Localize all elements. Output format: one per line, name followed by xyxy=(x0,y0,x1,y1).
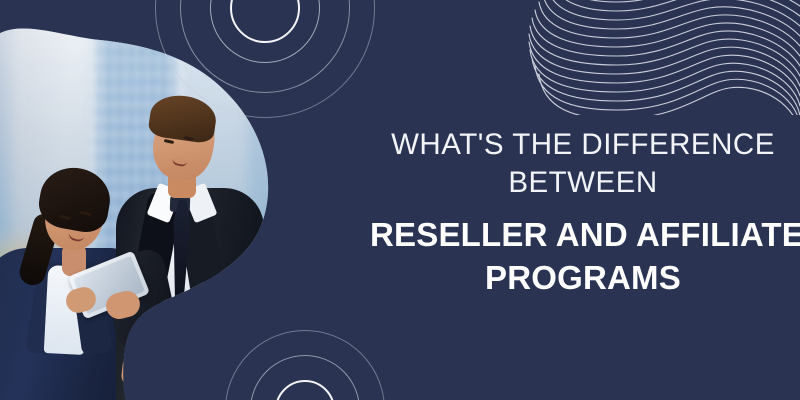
headline-bold-line-2: PROGRAMS xyxy=(370,256,796,299)
banner: WHAT'S THE DIFFERENCE BETWEEN RESELLER A… xyxy=(0,0,800,400)
headline-bold-line-1: RESELLER AND AFFILIATE xyxy=(370,213,796,256)
headline-light-line-1: WHAT'S THE DIFFERENCE xyxy=(370,126,796,164)
photo-blob-mask xyxy=(0,0,353,400)
headline-light-line-2: BETWEEN xyxy=(370,164,796,202)
topographic-wave-pattern xyxy=(525,0,800,115)
headline-block: WHAT'S THE DIFFERENCE BETWEEN RESELLER A… xyxy=(370,126,796,299)
hero-photo xyxy=(0,0,353,400)
